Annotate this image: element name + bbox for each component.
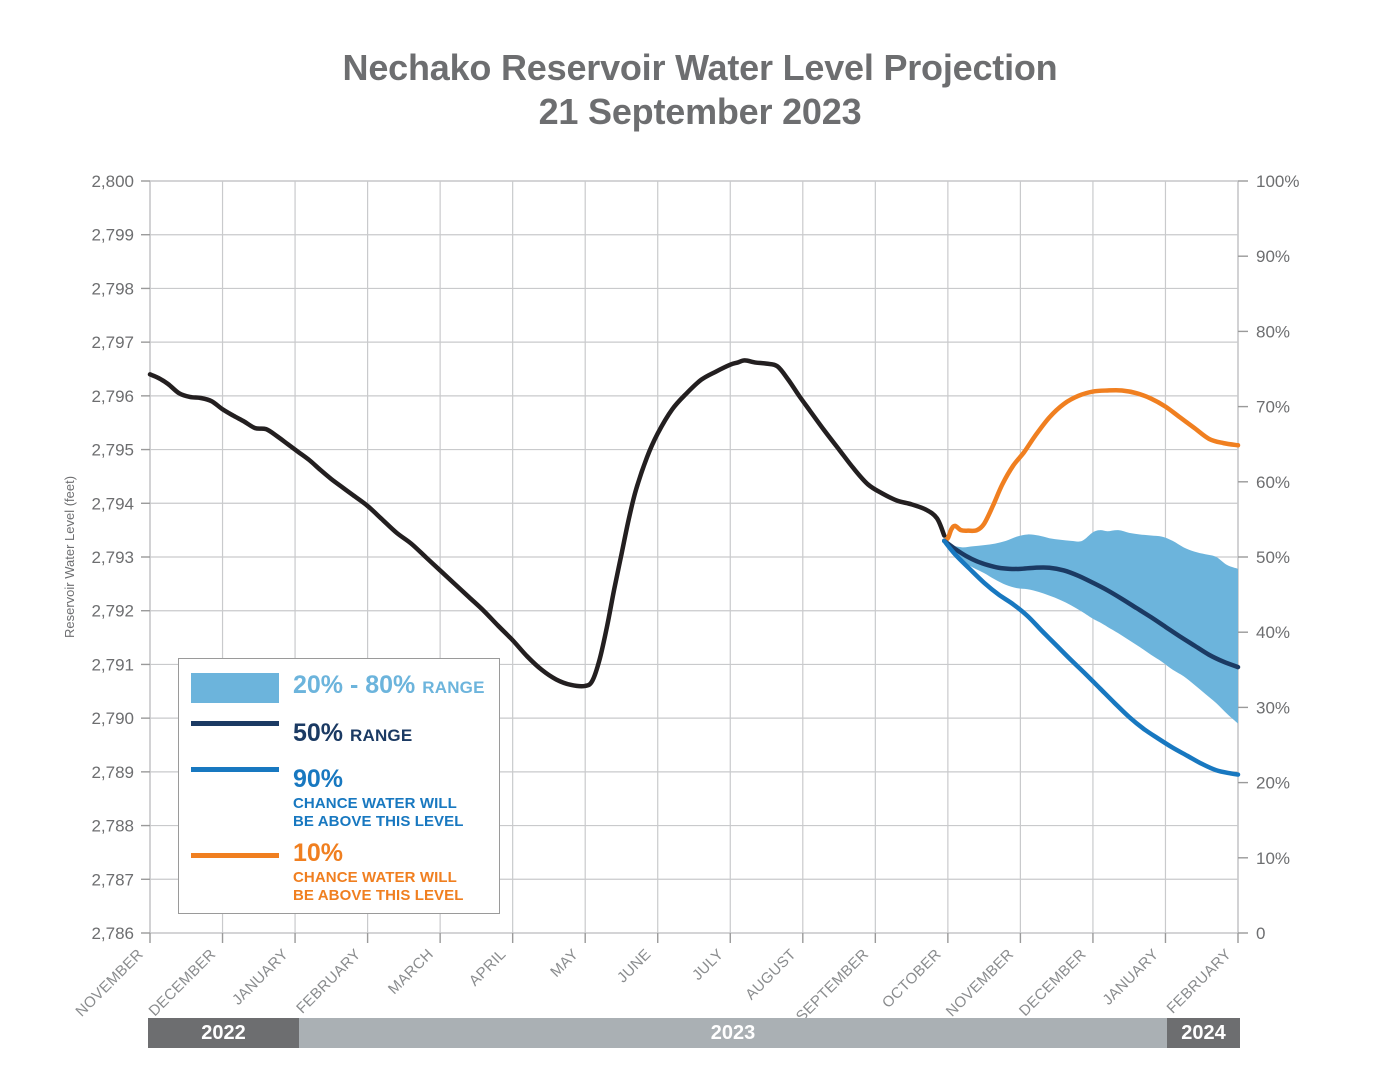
x-axis-month-label: APRIL [466, 946, 510, 990]
y-left-tick-label: 2,790 [91, 709, 134, 728]
x-axis-month-label: NOVEMBER [943, 946, 1017, 1020]
y-left-tick-label: 2,792 [91, 602, 134, 621]
x-axis-month-label: OCTOBER [879, 946, 945, 1012]
x-axis-month-label: JUNE [614, 946, 655, 987]
x-axis-month-label: DECEMBER [1016, 946, 1090, 1020]
median-line-icon [191, 721, 279, 726]
legend-p90-sub-line2: BE ABOVE THIS LEVEL [293, 813, 464, 831]
chart-legend: 20% - 80% RANGE 50% RANGE 90% CHANCE WAT… [178, 658, 500, 914]
legend-p90-sub-line1: CHANCE WATER WILL [293, 795, 464, 813]
legend-median-head-main: 50% [293, 719, 343, 747]
p10-line-icon [191, 853, 279, 858]
legend-text-p10: 10% CHANCE WATER WILL BE ABOVE THIS LEVE… [291, 841, 464, 904]
y-right-tick-label: 40% [1256, 623, 1290, 642]
y-left-tick-label: 2,798 [91, 279, 134, 298]
legend-p90-sub: CHANCE WATER WILL BE ABOVE THIS LEVEL [293, 795, 464, 830]
x-axis-month-label: NOVEMBER [72, 946, 146, 1020]
legend-swatch-median-wrap [179, 721, 291, 726]
y-left-tick-label: 2,799 [91, 226, 134, 245]
y-left-tick-label: 2,794 [91, 494, 134, 513]
legend-text-median: 50% RANGE [291, 721, 412, 746]
year-label-2024: 2024 [1181, 1022, 1226, 1045]
y-right-tick-label: 20% [1256, 774, 1290, 793]
y-right-tick-label: 90% [1256, 247, 1290, 266]
y-right-tick-label: 50% [1256, 548, 1290, 567]
y-right-tick-label: 30% [1256, 698, 1290, 717]
legend-p10-sub: CHANCE WATER WILL BE ABOVE THIS LEVEL [293, 869, 464, 904]
year-label-2023: 2023 [711, 1022, 756, 1045]
legend-item-p10: 10% CHANCE WATER WILL BE ABOVE THIS LEVE… [179, 841, 464, 904]
legend-swatch-band-wrap [179, 673, 291, 703]
x-axis-month-label: DECEMBER [146, 946, 220, 1020]
legend-band-head-main: 20% - 80% [293, 671, 415, 699]
y-left-tick-label: 2,787 [91, 870, 134, 889]
y-left-tick-label: 2,795 [91, 441, 134, 460]
y-left-tick-label: 2,800 [91, 172, 134, 191]
x-axis-month-label: FEBRUARY [1164, 946, 1235, 1017]
year-timeline-bar: 2022 2023 2024 [148, 1018, 1240, 1048]
x-axis-month-label: SEPTEMBER [793, 946, 872, 1025]
x-axis-month-label: FEBRUARY [293, 946, 364, 1017]
y-left-tick-label: 2,793 [91, 548, 134, 567]
y-right-tick-label: 0 [1256, 924, 1265, 943]
y-right-tick-label: 60% [1256, 473, 1290, 492]
year-segment-2022: 2022 [148, 1018, 299, 1048]
legend-median-head-small: RANGE [350, 726, 412, 745]
legend-text-band: 20% - 80% RANGE [291, 673, 485, 698]
water-level-projection-chart: 2,8002,7992,7982,7972,7962,7952,7942,793… [0, 0, 1400, 1082]
band-20-80-area [944, 530, 1238, 723]
legend-band-head: 20% - 80% RANGE [293, 673, 485, 698]
y-left-tick-label: 2,796 [91, 387, 134, 406]
x-axis-month-label: AUGUST [742, 946, 799, 1003]
legend-p10-sub-line2: BE ABOVE THIS LEVEL [293, 887, 464, 905]
legend-item-band: 20% - 80% RANGE [179, 673, 485, 703]
legend-text-p90: 90% CHANCE WATER WILL BE ABOVE THIS LEVE… [291, 767, 464, 830]
y-right-tick-label: 10% [1256, 849, 1290, 868]
year-segment-2024: 2024 [1167, 1018, 1240, 1048]
legend-swatch-p10-wrap [179, 841, 291, 858]
y-right-tick-label: 70% [1256, 398, 1290, 417]
year-label-2022: 2022 [201, 1022, 246, 1045]
x-axis-month-label: MAY [547, 946, 582, 981]
y-left-tick-label: 2,797 [91, 333, 134, 352]
legend-swatch-p90-wrap [179, 767, 291, 772]
year-segment-2023: 2023 [299, 1018, 1167, 1048]
series-line-observed-water-level [150, 360, 944, 686]
legend-item-median: 50% RANGE [179, 721, 412, 746]
legend-p10-head: 10% [293, 841, 464, 866]
x-axis-month-label: JANUARY [229, 946, 292, 1009]
band-swatch-icon [191, 673, 279, 703]
legend-p10-sub-line1: CHANCE WATER WILL [293, 869, 464, 887]
y-left-tick-label: 2,791 [91, 655, 134, 674]
legend-median-head: 50% RANGE [293, 721, 412, 746]
legend-item-p90: 90% CHANCE WATER WILL BE ABOVE THIS LEVE… [179, 767, 464, 830]
y-right-tick-label: 80% [1256, 322, 1290, 341]
y-left-tick-label: 2,788 [91, 817, 134, 836]
legend-band-head-small: RANGE [422, 678, 484, 697]
x-axis-month-label: MARCH [385, 946, 437, 998]
y-right-tick-label: 100% [1256, 172, 1299, 191]
y-axis-title: Reservoir Water Level (feet) [62, 476, 77, 638]
y-left-tick-label: 2,789 [91, 763, 134, 782]
legend-p90-head: 90% [293, 767, 464, 792]
y-left-tick-label: 2,786 [91, 924, 134, 943]
p90-line-icon [191, 767, 279, 772]
x-axis-month-label: JULY [689, 946, 727, 984]
x-axis-month-label: JANUARY [1099, 946, 1162, 1009]
chart-page: Nechako Reservoir Water Level Projection… [0, 0, 1400, 1082]
y-axis-title-text: Reservoir Water Level (feet) [62, 476, 77, 638]
series-line-10-chance-water-will-be-above-this-level [944, 390, 1238, 541]
